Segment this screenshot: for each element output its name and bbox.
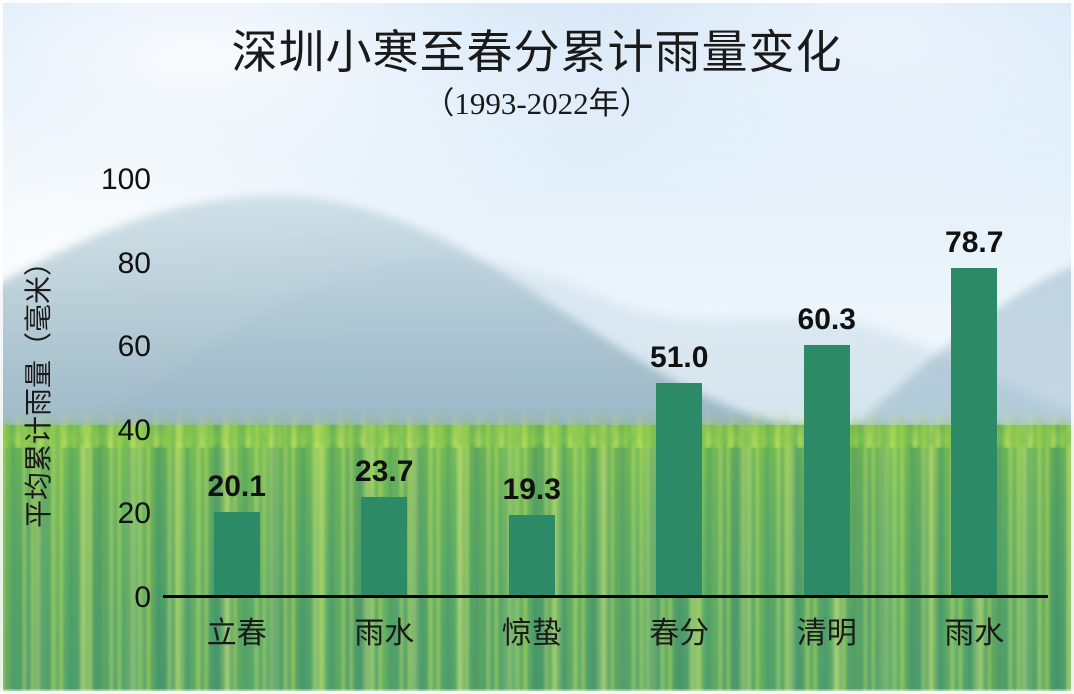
chart-title: 深圳小寒至春分累计雨量变化 bbox=[0, 26, 1074, 80]
x-label-chunfen: 春分 bbox=[606, 608, 754, 652]
bar-value-label: 20.1 bbox=[208, 470, 266, 504]
plot-area: 0 20 40 60 80 100 20.1 23.7 19.3 bbox=[163, 180, 1048, 598]
x-label-jingzhe: 惊蛰 bbox=[458, 608, 606, 652]
x-label-yushui-1: 雨水 bbox=[311, 608, 459, 652]
title-block: 深圳小寒至春分累计雨量变化 （1993-2022年） bbox=[0, 26, 1074, 125]
bar-lichun[interactable]: 20.1 bbox=[214, 512, 260, 595]
x-label-yushui-2: 雨水 bbox=[901, 608, 1049, 652]
bar-value-label: 23.7 bbox=[355, 455, 413, 489]
x-label-qingming: 清明 bbox=[753, 608, 901, 652]
bar-yushui-2[interactable]: 78.7 bbox=[951, 268, 997, 595]
bar-yushui-1[interactable]: 23.7 bbox=[361, 497, 407, 595]
y-axis-title-label: 平均累计雨量（毫米） bbox=[17, 248, 57, 528]
x-axis-labels: 立春 雨水 惊蛰 春分 清明 雨水 bbox=[163, 608, 1048, 652]
bar-value-label: 51.0 bbox=[650, 341, 708, 375]
bar-value-label: 78.7 bbox=[945, 226, 1003, 260]
bar-qingming[interactable]: 60.3 bbox=[804, 345, 850, 595]
y-tick-60: 60 bbox=[118, 330, 151, 364]
x-label-lichun: 立春 bbox=[163, 608, 311, 652]
bar-slot: 51.0 bbox=[606, 180, 754, 595]
bar-slot: 23.7 bbox=[311, 180, 459, 595]
bar-slot: 60.3 bbox=[753, 180, 901, 595]
bar-value-label: 60.3 bbox=[798, 303, 856, 337]
bar-slot: 20.1 bbox=[163, 180, 311, 595]
bar-jingzhe[interactable]: 19.3 bbox=[509, 515, 555, 595]
y-tick-40: 40 bbox=[118, 414, 151, 448]
y-tick-100: 100 bbox=[101, 163, 151, 197]
bar-slot: 78.7 bbox=[901, 180, 1049, 595]
chart-canvas: 深圳小寒至春分累计雨量变化 （1993-2022年） 平均累计雨量（毫米） 0 … bbox=[0, 0, 1074, 694]
bar-chunfen[interactable]: 51.0 bbox=[656, 383, 702, 595]
x-axis-line bbox=[163, 595, 1048, 598]
y-tick-0: 0 bbox=[134, 581, 151, 615]
bar-series: 20.1 23.7 19.3 51.0 60.3 bbox=[163, 180, 1048, 595]
y-tick-80: 80 bbox=[118, 247, 151, 281]
bar-value-label: 19.3 bbox=[503, 473, 561, 507]
background-bottom-edge bbox=[0, 689, 1074, 694]
y-tick-20: 20 bbox=[118, 497, 151, 531]
bar-slot: 19.3 bbox=[458, 180, 606, 595]
chart-subtitle: （1993-2022年） bbox=[0, 84, 1074, 124]
y-axis-title: 平均累计雨量（毫米） bbox=[14, 178, 60, 598]
